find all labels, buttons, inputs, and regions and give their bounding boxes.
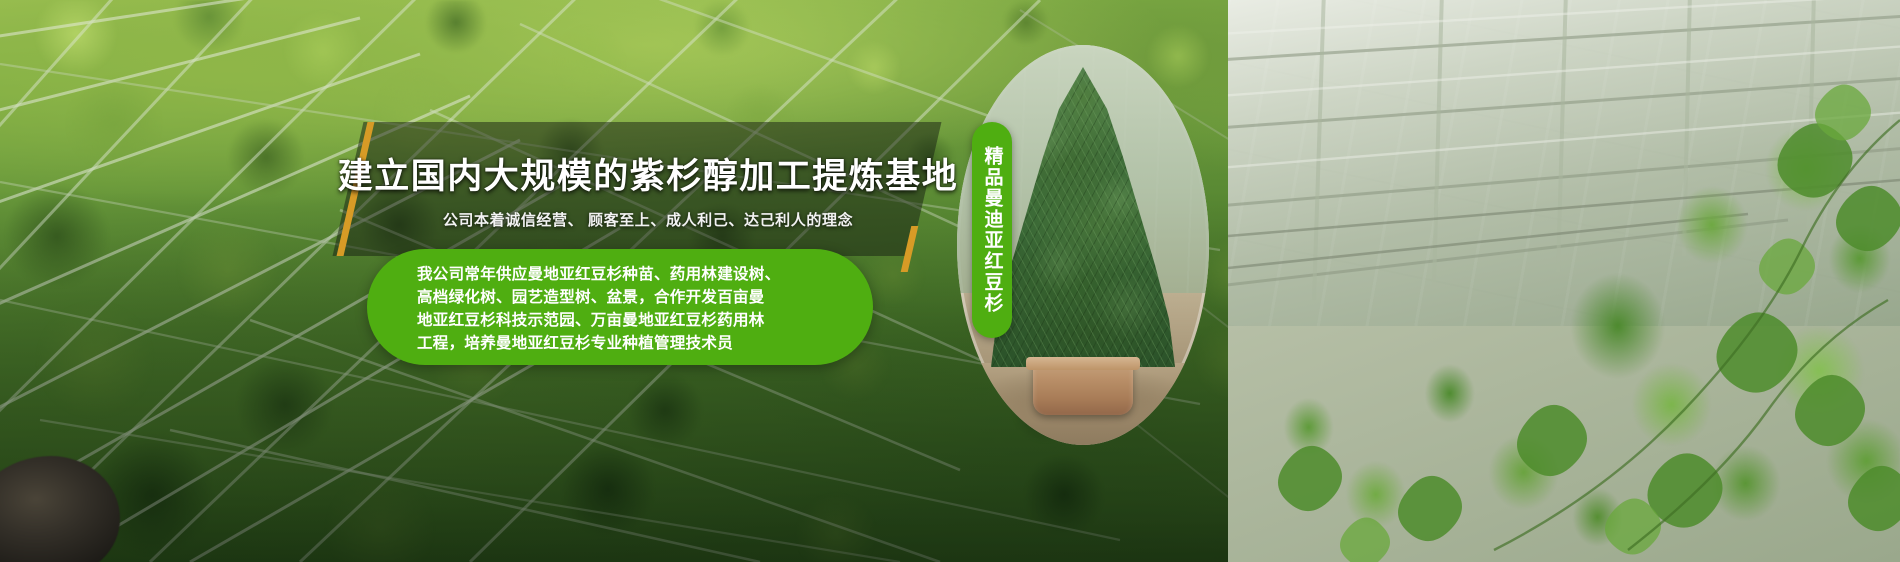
headline-block: 建立国内大规模的紫杉醇加工提炼基地 公司本着诚信经营、 顾客至上、成人利己、达己…	[348, 122, 948, 256]
vertical-badge-label: 精品曼迪亚红豆杉	[983, 146, 1002, 314]
vertical-product-badge: 精品曼迪亚红豆杉	[972, 122, 1012, 338]
grape-leaf-shapes	[1228, 0, 1900, 562]
terracotta-pot	[1033, 357, 1133, 415]
description-line-1: 我公司常年供应曼地亚红豆杉种苗、药用林建设树、	[417, 263, 849, 286]
description-paragraph: 我公司常年供应曼地亚红豆杉种苗、药用林建设树、 高档绿化树、园艺造型树、盆景，合…	[417, 263, 849, 355]
greenhouse-vine-photo	[1228, 0, 1900, 562]
description-line-2: 高档绿化树、园艺造型树、盆景，合作开发百亩曼	[417, 286, 849, 309]
description-line-3: 地亚红豆杉科技示范园、万亩曼地亚红豆杉药用林	[417, 309, 849, 332]
description-line-4: 工程，培养曼地亚红豆杉专业种植管理技术员	[417, 332, 849, 355]
green-description-panel: 我公司常年供应曼地亚红豆杉种苗、药用林建设树、 高档绿化树、园艺造型树、盆景，合…	[367, 249, 873, 365]
banner-headline: 建立国内大规模的紫杉醇加工提炼基地	[338, 148, 959, 199]
promo-banner: 建立国内大规模的紫杉醇加工提炼基地 公司本着诚信经营、 顾客至上、成人利己、达己…	[0, 0, 1900, 562]
banner-subheadline: 公司本着诚信经营、 顾客至上、成人利己、达己利人的理念	[443, 209, 853, 230]
